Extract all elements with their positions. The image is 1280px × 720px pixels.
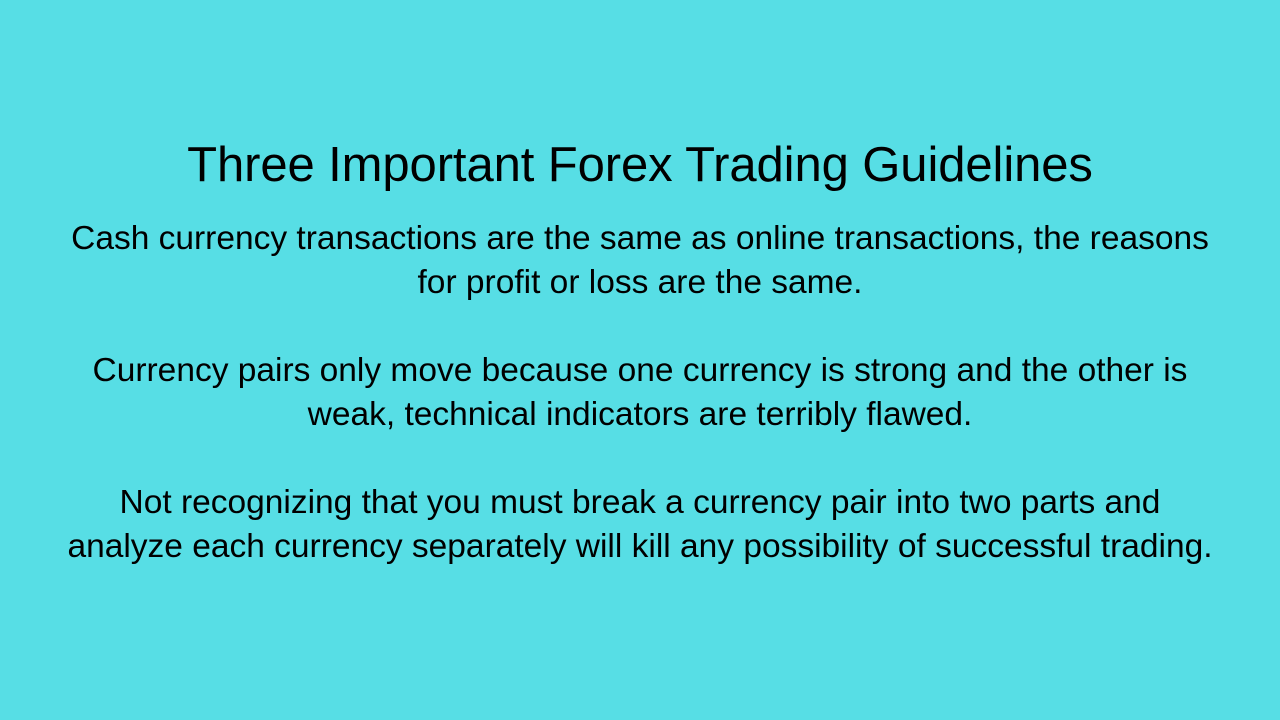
guideline-paragraph-3: Not recognizing that you must break a cu…	[64, 481, 1216, 569]
page-title: Three Important Forex Trading Guidelines	[0, 136, 1280, 195]
paragraph-spacer-1	[64, 305, 1216, 349]
slide-body-text: Cash currency transactions are the same …	[64, 217, 1216, 569]
guideline-paragraph-1: Cash currency transactions are the same …	[64, 217, 1216, 305]
paragraph-spacer-2	[64, 437, 1216, 481]
presentation-slide: Three Important Forex Trading Guidelines…	[0, 0, 1280, 720]
guideline-paragraph-2: Currency pairs only move because one cur…	[64, 349, 1216, 437]
